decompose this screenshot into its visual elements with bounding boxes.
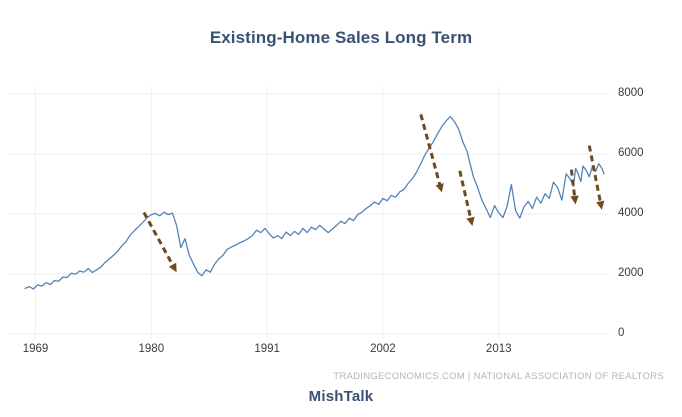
y-axis-tick-label: 2000 — [618, 267, 644, 279]
decline-arrow-2005-2008 — [421, 114, 440, 185]
decline-arrow-2021-2023-head — [596, 201, 604, 210]
data-line-existing-home-sales — [25, 117, 604, 290]
y-axis-tick-label: 0 — [618, 327, 624, 339]
y-axis-tick-label: 4000 — [618, 207, 644, 219]
decline-arrow-2009-2011 — [460, 171, 471, 219]
vertical-gridlines — [36, 86, 499, 340]
gridlines — [10, 94, 610, 334]
y-axis-tick-label: 6000 — [618, 147, 644, 159]
chart-container: Existing-Home Sales Long Term 8000600040… — [0, 0, 682, 417]
decline-arrow-2020-covid — [571, 170, 574, 198]
decline-arrow-1979-1982-head — [169, 263, 177, 272]
y-axis-tick-label: 8000 — [618, 87, 644, 99]
source-attribution: TRADINGECONOMICS.COM | NATIONAL ASSOCIAT… — [0, 370, 664, 381]
brand-mishtalk: MishTalk — [0, 388, 682, 405]
x-axis-tick-label: 1969 — [6, 343, 66, 355]
x-axis-tick-label: 1980 — [121, 343, 181, 355]
chart-plot-area — [0, 0, 682, 417]
decline-arrow-2009-2011-head — [466, 217, 474, 226]
x-axis-tick-label: 2002 — [353, 343, 413, 355]
decline-arrow-1979-1982 — [144, 213, 173, 267]
trend-arrow-annotations — [144, 114, 604, 272]
decline-arrow-2020-covid-head — [570, 195, 578, 204]
decline-arrow-2005-2008-head — [436, 183, 444, 192]
x-axis-tick-label: 1991 — [237, 343, 297, 355]
x-axis-tick-label: 2013 — [469, 343, 529, 355]
